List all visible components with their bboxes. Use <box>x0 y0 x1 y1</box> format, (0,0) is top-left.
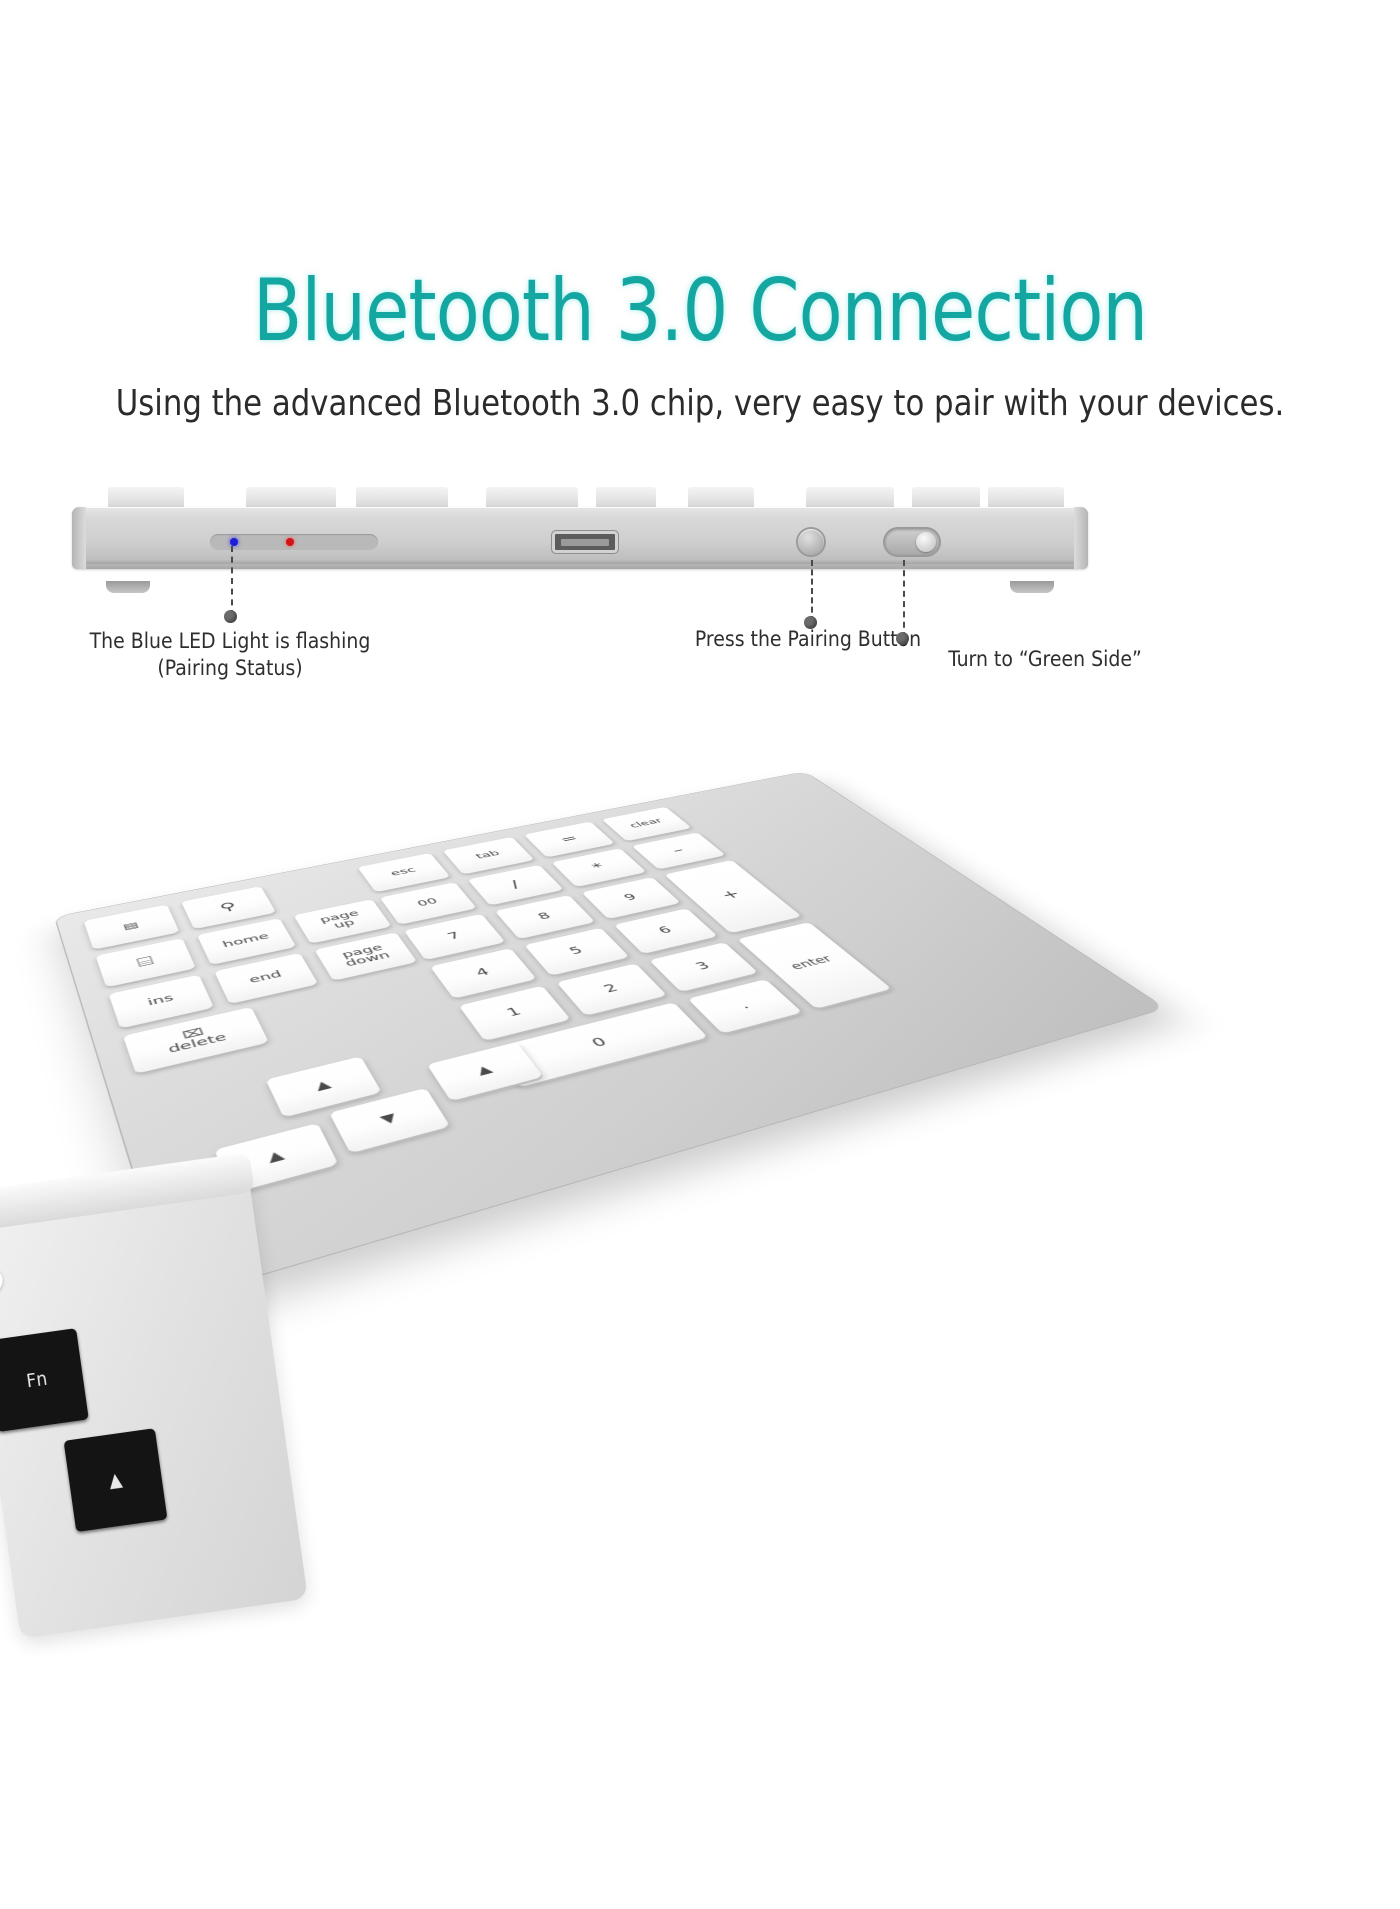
key-esc-label: esc <box>389 867 418 878</box>
laptop-key-arrow[interactable]: ▲ <box>64 1428 168 1532</box>
key-3-label: 3 <box>693 961 713 973</box>
key-plus-label: + <box>718 888 745 901</box>
callout-leader-3 <box>903 560 905 638</box>
key-0-label: 0 <box>589 1036 610 1050</box>
laptop-arrow-icon: ▲ <box>107 1468 123 1492</box>
search-icon: ⚲ <box>218 901 239 914</box>
document-icon: ⌸ <box>135 955 155 970</box>
red-led-icon <box>286 538 294 546</box>
key-tab-label: tab <box>474 850 502 861</box>
device-foot-right <box>1010 581 1054 593</box>
numeric-keypad-photo: ▤ ⚲ esc tab = clear ⌸ home <box>150 640 1270 1470</box>
key-5-label: 5 <box>567 946 586 957</box>
arrow-up-icon: ▲ <box>313 1079 333 1093</box>
laptop-key-fn[interactable]: Fn <box>0 1328 89 1432</box>
power-switch-knob[interactable] <box>916 532 936 552</box>
device-foot-left <box>106 581 150 593</box>
key-clear-label: clear <box>628 818 665 830</box>
key-3[interactable]: 3 <box>649 942 758 992</box>
key-home-label: home <box>222 932 271 949</box>
key-4-label: 4 <box>474 967 492 979</box>
key-arrow-down[interactable]: ▼ <box>329 1088 450 1153</box>
key-5[interactable]: 5 <box>524 928 629 976</box>
key-2[interactable]: 2 <box>556 963 667 1015</box>
delete-icon: ⌧ delete <box>163 1023 228 1055</box>
key-0[interactable]: 0 <box>490 1002 708 1087</box>
power-slide-switch[interactable] <box>885 529 939 555</box>
key-4[interactable]: 4 <box>430 948 537 998</box>
key-end[interactable]: end <box>214 953 318 1004</box>
key-double-zero-label: 00 <box>416 898 440 909</box>
key-7-label: 7 <box>446 931 463 942</box>
key-1-label: 1 <box>505 1006 525 1019</box>
key-page-up-label: page up <box>318 910 366 933</box>
calculator-icon: ▤ <box>122 921 140 931</box>
device-right-bevel <box>1074 507 1088 569</box>
page-title: Bluetooth 3.0 Connection <box>49 268 1351 354</box>
key-end-label: end <box>248 970 284 985</box>
key-ins[interactable]: ins <box>109 975 214 1029</box>
arrow-right-icon: ▲ <box>474 1064 495 1078</box>
key-arrow-right[interactable]: ▲ <box>427 1042 543 1101</box>
key-minus-label: – <box>669 845 688 855</box>
key-enter[interactable]: enter <box>737 922 891 1009</box>
micro-usb-port <box>552 531 618 553</box>
key-decimal[interactable]: . <box>688 979 803 1033</box>
key-1[interactable]: 1 <box>459 986 571 1041</box>
page-subtitle: Using the advanced Bluetooth 3.0 chip, v… <box>35 382 1365 425</box>
blue-led-icon <box>230 538 238 546</box>
led-indicator-strip <box>210 534 378 550</box>
arrow-left-icon: ▲ <box>266 1149 287 1165</box>
callout-leader-1 <box>231 546 233 616</box>
device-edge-view <box>72 487 1088 587</box>
arrow-down-icon: ▼ <box>379 1112 400 1127</box>
key-2-label: 2 <box>601 983 621 995</box>
key-multiply-label: * <box>589 862 608 873</box>
callout-leader-2 <box>811 560 813 622</box>
callout-dot-1 <box>224 610 237 623</box>
key-enter-label: enter <box>789 955 836 973</box>
key-page-down-label: page down <box>339 943 392 968</box>
key-9-label: 9 <box>622 893 640 903</box>
key-6-label: 6 <box>656 925 675 936</box>
key-ins-label: ins <box>147 994 176 1008</box>
key-arrow-up[interactable]: ▲ <box>266 1056 382 1117</box>
laptop-key-fn-label: Fn <box>25 1368 49 1393</box>
pairing-button[interactable] <box>798 529 824 555</box>
key-equals-label: = <box>557 833 581 844</box>
key-8-label: 8 <box>536 911 554 921</box>
edge-key-row <box>88 487 1078 509</box>
device-left-bevel <box>72 507 86 569</box>
key-decimal-label: . <box>737 1000 753 1011</box>
key-divide-label: / <box>508 879 523 890</box>
key-delete[interactable]: ⌧ delete <box>123 1007 269 1074</box>
